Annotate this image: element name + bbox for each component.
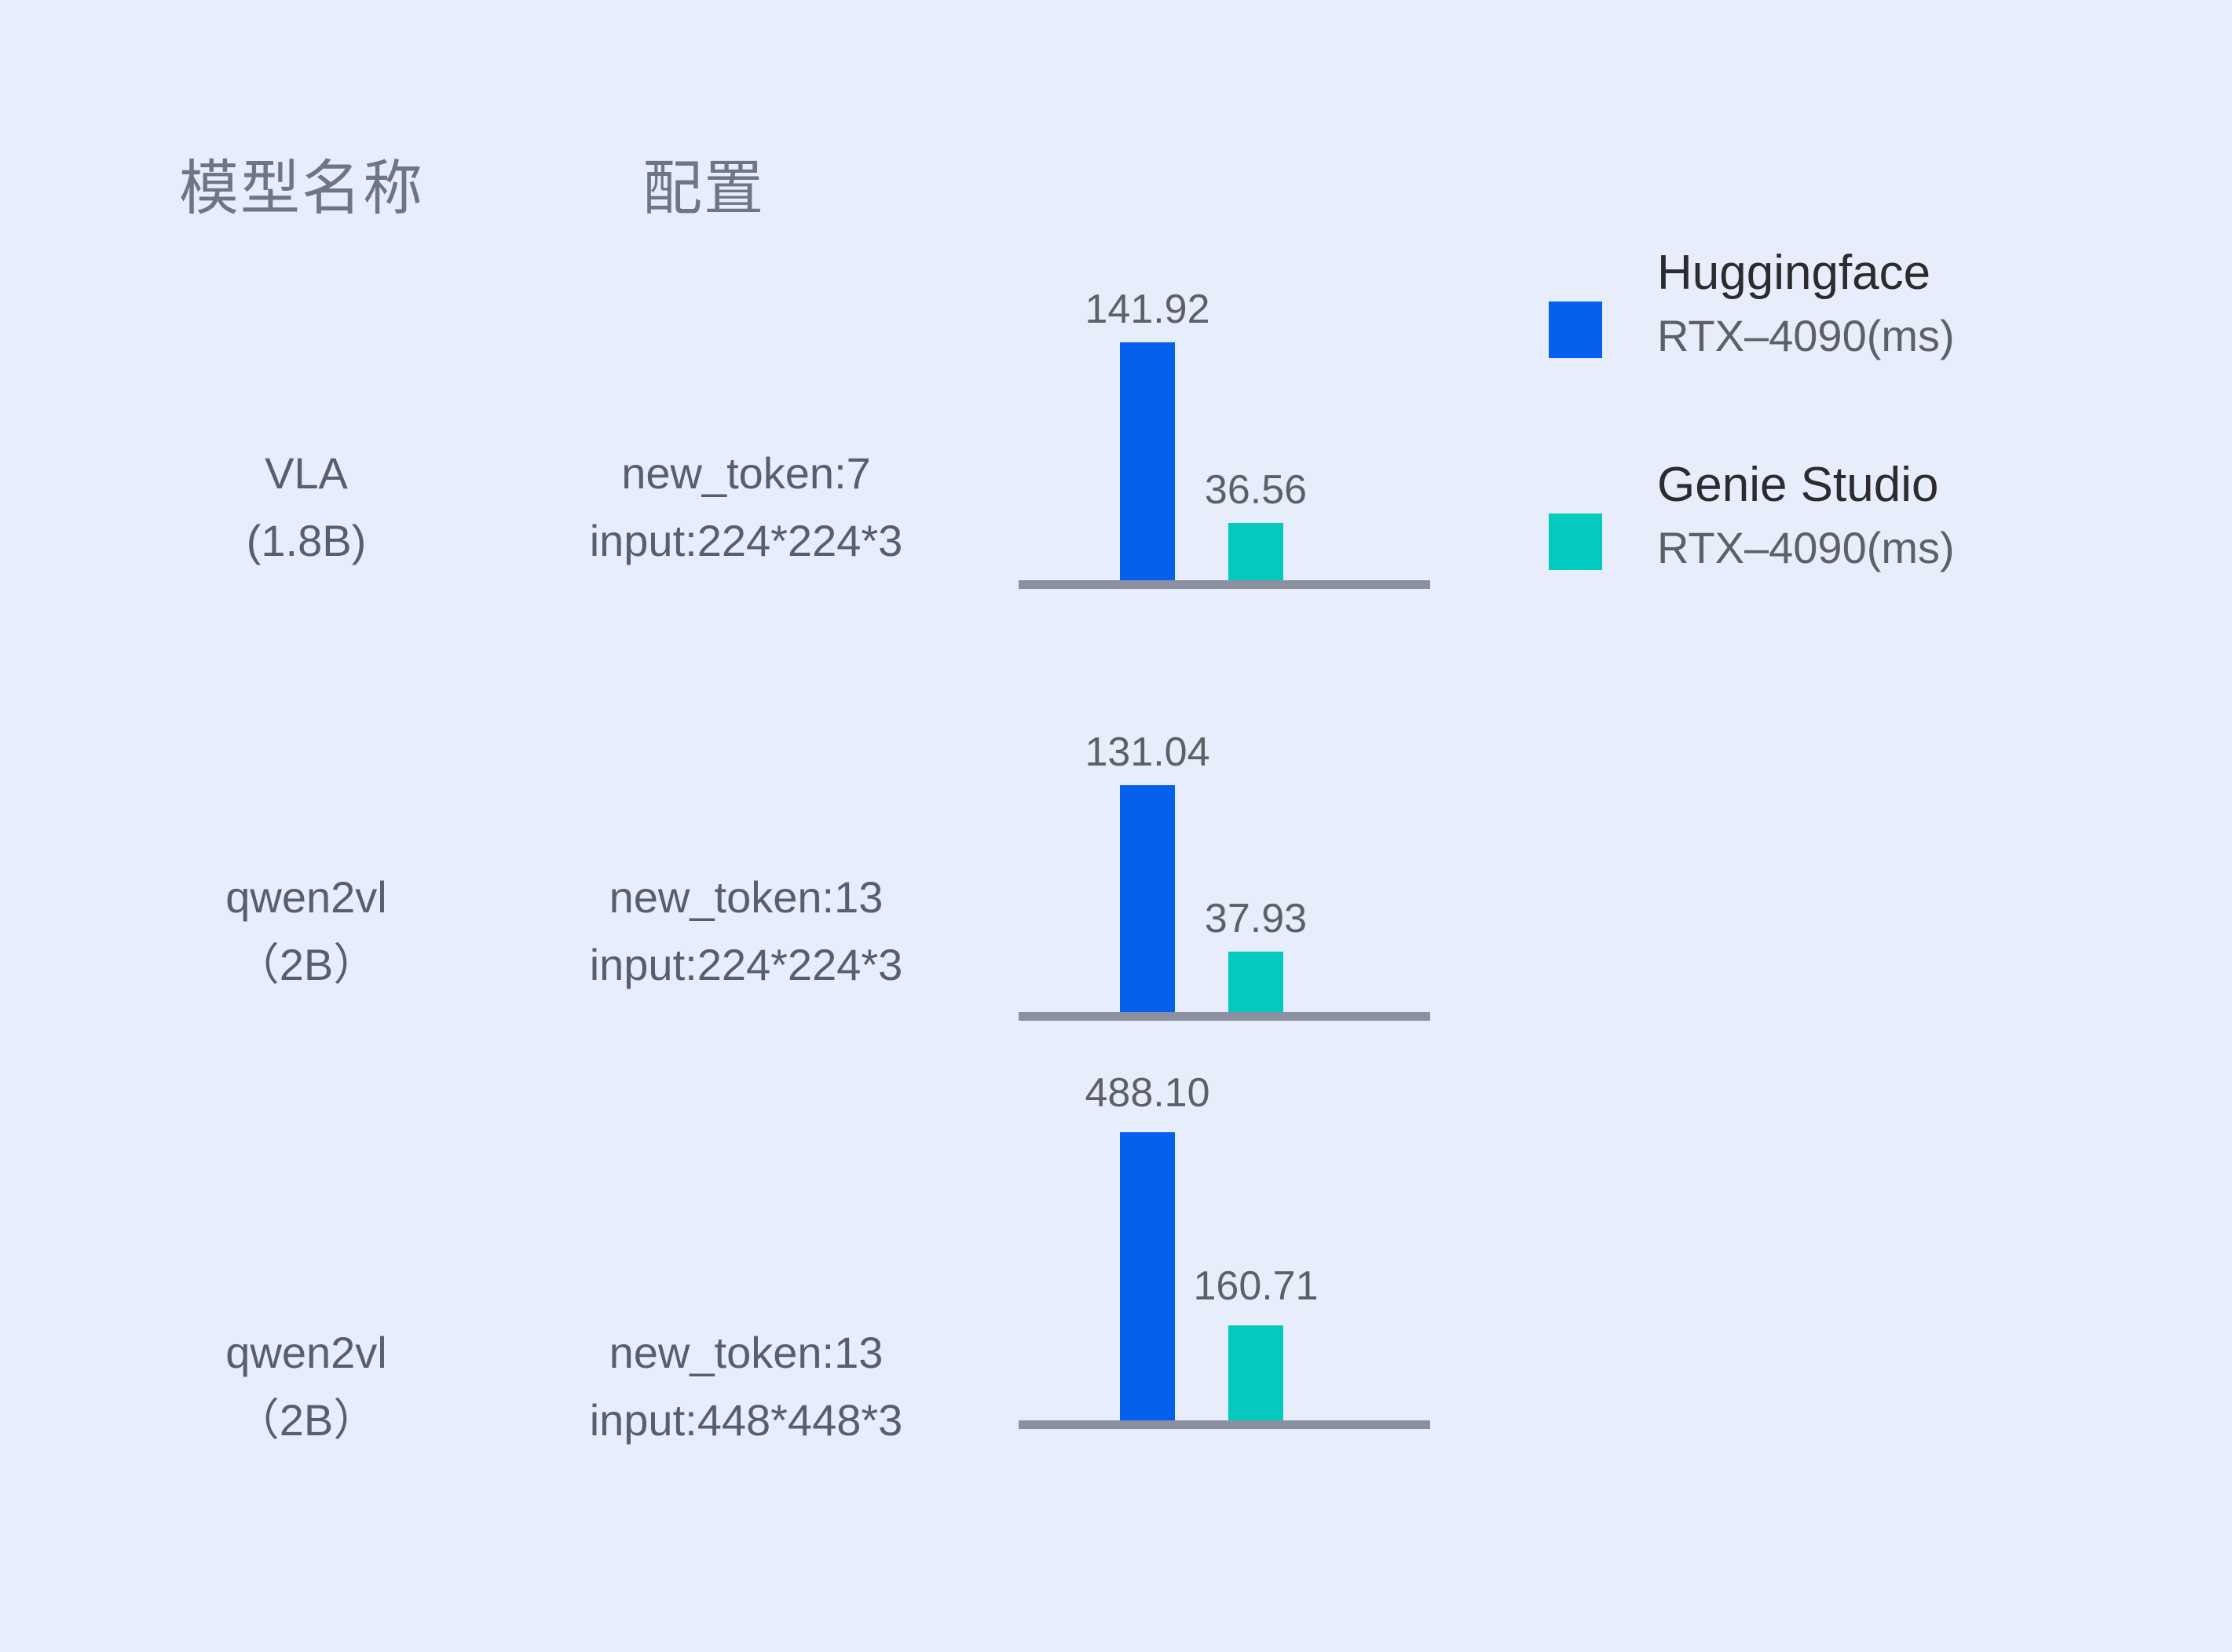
bar-huggingface bbox=[1120, 342, 1175, 583]
bar-huggingface bbox=[1120, 785, 1175, 1014]
legend-label-genie-studio: Genie Studio RTX–4090(ms) bbox=[1657, 455, 2144, 581]
row-model-name-line1: qwen2vl bbox=[141, 1319, 471, 1387]
row-config-line2: input:224*224*3 bbox=[471, 931, 1021, 999]
chart-legend: Huggingface RTX–4090(ms) Genie Studio RT… bbox=[1546, 236, 2142, 660]
row-config: new_token:13 input:224*224*3 bbox=[471, 864, 1021, 999]
row-baseline bbox=[1019, 1012, 1430, 1021]
row-baseline bbox=[1019, 1420, 1430, 1429]
row-model-name-line2: （2B） bbox=[141, 1387, 471, 1454]
legend-swatch-huggingface-icon bbox=[1549, 302, 1602, 358]
legend-label-huggingface: Huggingface RTX–4090(ms) bbox=[1657, 243, 2144, 369]
row-config-line2: input:448*448*3 bbox=[471, 1387, 1021, 1454]
bar-genie-studio bbox=[1228, 952, 1283, 1014]
column-header-config: 配置 bbox=[642, 140, 765, 226]
row-model-name: qwen2vl （2B） bbox=[141, 1319, 471, 1454]
row-config-line2: input:224*224*3 bbox=[471, 507, 1021, 575]
bar-value-label-genie-studio: 36.56 bbox=[1205, 466, 1307, 514]
bar-value-label-huggingface: 141.92 bbox=[1085, 286, 1209, 333]
bar-group-vla: 141.92 36.56 bbox=[1019, 259, 1433, 589]
bar-genie-studio bbox=[1228, 1325, 1283, 1423]
row-model-name-line1: qwen2vl bbox=[141, 864, 471, 931]
bar-huggingface bbox=[1120, 1132, 1175, 1429]
bar-group-qwen2vl-224: 131.04 37.93 bbox=[1019, 691, 1433, 1021]
bar-value-label-huggingface: 488.10 bbox=[1085, 1069, 1209, 1117]
row-config-line1: new_token:7 bbox=[471, 440, 1021, 507]
bar-group-qwen2vl-448: 488.10 160.71 bbox=[1019, 1099, 1433, 1429]
legend-subtitle-genie-studio: RTX–4090(ms) bbox=[1657, 515, 2144, 581]
row-config: new_token:7 input:224*224*3 bbox=[471, 440, 1021, 575]
bar-genie-studio bbox=[1228, 523, 1283, 583]
legend-item-huggingface[interactable]: Huggingface RTX–4090(ms) bbox=[1546, 236, 2142, 448]
legend-swatch-genie-studio-icon bbox=[1549, 514, 1602, 570]
row-model-name-line1: VLA bbox=[141, 440, 471, 507]
row-config: new_token:13 input:448*448*3 bbox=[471, 1319, 1021, 1454]
column-header-model-name: 模型名称 bbox=[179, 140, 424, 226]
legend-item-genie-studio[interactable]: Genie Studio RTX–4090(ms) bbox=[1546, 448, 2142, 660]
row-model-name-line2: （2B） bbox=[141, 931, 471, 999]
row-baseline bbox=[1019, 580, 1430, 589]
chart-canvas: 模型名称 配置 VLA (1.8B) new_token:7 input:224… bbox=[0, 0, 2232, 1652]
legend-subtitle-huggingface: RTX–4090(ms) bbox=[1657, 303, 2144, 369]
row-config-line1: new_token:13 bbox=[471, 864, 1021, 931]
bar-value-label-huggingface: 131.04 bbox=[1085, 729, 1209, 776]
row-model-name: VLA (1.8B) bbox=[141, 440, 471, 575]
row-config-line1: new_token:13 bbox=[471, 1319, 1021, 1387]
legend-title-huggingface: Huggingface bbox=[1657, 243, 2144, 303]
legend-title-genie-studio: Genie Studio bbox=[1657, 455, 2144, 515]
row-model-name-line2: (1.8B) bbox=[141, 507, 471, 575]
bar-value-label-genie-studio: 37.93 bbox=[1205, 895, 1307, 942]
row-model-name: qwen2vl （2B） bbox=[141, 864, 471, 999]
bar-value-label-genie-studio: 160.71 bbox=[1193, 1263, 1318, 1310]
